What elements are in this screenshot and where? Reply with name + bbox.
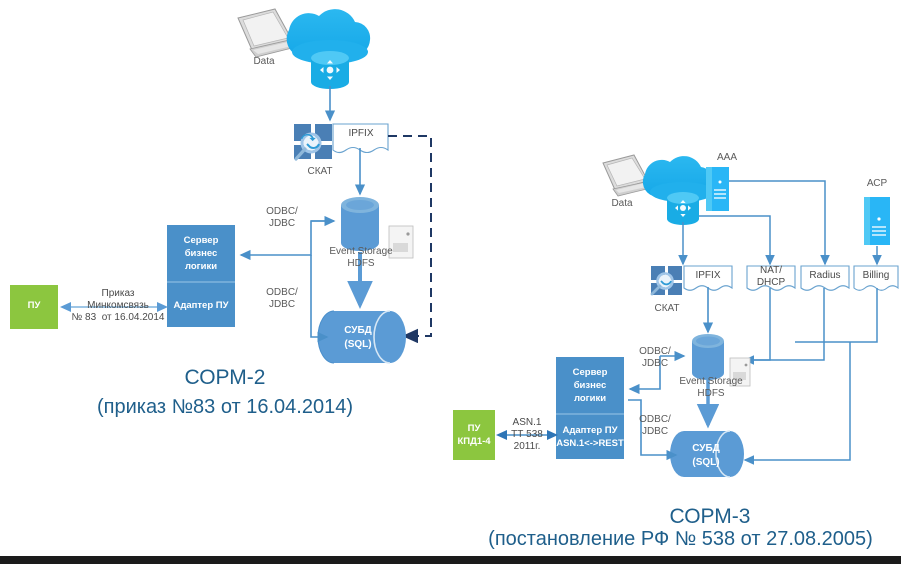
sorm3-server-label-3: логики	[556, 393, 624, 405]
sorm3-subtitle: (постановление РФ № 538 от 27.08.2005)	[460, 528, 901, 551]
sorm2-server-label-2: бизнес	[167, 248, 235, 260]
sorm3-subd-label-1: СУБД	[682, 443, 730, 456]
sorm2-odbc-top-label-1: ODBC/	[258, 206, 306, 218]
sorm2-prikaz-label-2: Минкомсвязь	[71, 300, 165, 312]
sorm2-router-icon	[311, 51, 349, 89]
sorm3-skat-label: СКАТ	[645, 303, 689, 315]
sorm2-data-label: Data	[239, 56, 289, 68]
sorm3-nat-label-2: DHCP	[749, 277, 793, 289]
sorm3-adapter-label-1: Адаптер ПУ	[556, 425, 624, 437]
sorm3-ipfix-label: IPFIX	[686, 270, 730, 282]
sorm2-ipfix-label: IPFIX	[338, 128, 384, 140]
diagram-canvas: Data СКАТ IPFIX Event Storage HDFS СУБД …	[0, 0, 901, 564]
sorm3-odbc-top-label-1: ODBC/	[632, 346, 678, 358]
sorm3-acp-server-icon	[864, 197, 890, 245]
sorm3-aaa-server-icon	[706, 167, 729, 211]
sorm3-asn-label-3: 2011г.	[505, 441, 549, 453]
sorm3-title: СОРМ-3	[565, 505, 855, 529]
sorm3-odbc-bottom-label-1: ODBC/	[632, 414, 678, 426]
sorm3-pu-label-1: ПУ	[453, 423, 495, 435]
sorm3-asn-label-2: ТТ 538	[505, 429, 549, 441]
sorm2-odbc-bottom-label-1: ODBC/	[258, 287, 306, 299]
sorm2-event-storage-label-1: Event Storage	[326, 246, 396, 258]
bottom-border-bar	[0, 556, 901, 564]
sorm2-prikaz-label-3: № 83 от 16.04.2014	[62, 312, 174, 324]
sorm3-aaa-label: ААА	[709, 152, 745, 164]
sorm2-title: СОРМ-2	[80, 366, 370, 390]
sorm3-data-label: Data	[600, 198, 644, 210]
sorm3-pu-label-2: КПД1-4	[453, 436, 495, 448]
sorm3-radius-label: Radius	[803, 270, 847, 282]
sorm3-billing-label: Billing	[855, 270, 897, 282]
sorm2-odbc-bottom-label-2: JDBC	[258, 299, 306, 311]
sorm3-pu-box	[453, 410, 495, 460]
sorm2-adapter-label: Адаптер ПУ	[167, 300, 235, 312]
sorm2-event-storage-label-2: HDFS	[326, 258, 396, 270]
sorm3-router-icon	[667, 192, 699, 225]
sorm2-skat-label: СКАТ	[293, 166, 347, 178]
sorm3-adapter-label-2: ASN.1<->REST	[554, 438, 626, 450]
sorm2-subd-label-2: (SQL)	[330, 339, 386, 352]
sorm3-server-label-1: Сервер	[556, 367, 624, 379]
sorm3-odbc-bottom-label-2: JDBC	[632, 426, 678, 438]
sorm3-acp-label: АСР	[859, 178, 895, 190]
sorm2-server-label-1: Сервер	[167, 235, 235, 247]
sorm2-skat-icon	[294, 124, 332, 159]
sorm3-nat-label-1: NAT/	[749, 265, 793, 277]
sorm2-subd-label-1: СУБД	[330, 325, 386, 338]
sorm3-skat-icon	[651, 266, 682, 295]
sorm3-collector-routing	[745, 288, 877, 460]
sorm2-pu-label: ПУ	[10, 300, 58, 312]
sorm3-event-storage-label-1: Event Storage	[675, 376, 747, 388]
sorm3-subd-label-2: (SQL)	[682, 457, 730, 470]
sorm3-odbc-top-label-2: JDBC	[632, 358, 678, 370]
sorm3-asn-label-1: ASN.1	[505, 417, 549, 429]
sorm2-server-label-3: логики	[167, 261, 235, 273]
sorm2-odbc-top-label-2: JDBC	[258, 218, 306, 230]
sorm3-event-storage-label-2: HDFS	[675, 388, 747, 400]
sorm2-prikaz-label-1: Приказ	[75, 288, 161, 300]
sorm3-server-label-2: бизнес	[556, 380, 624, 392]
sorm2-subtitle: (приказ №83 от 16.04.2014)	[45, 396, 405, 419]
